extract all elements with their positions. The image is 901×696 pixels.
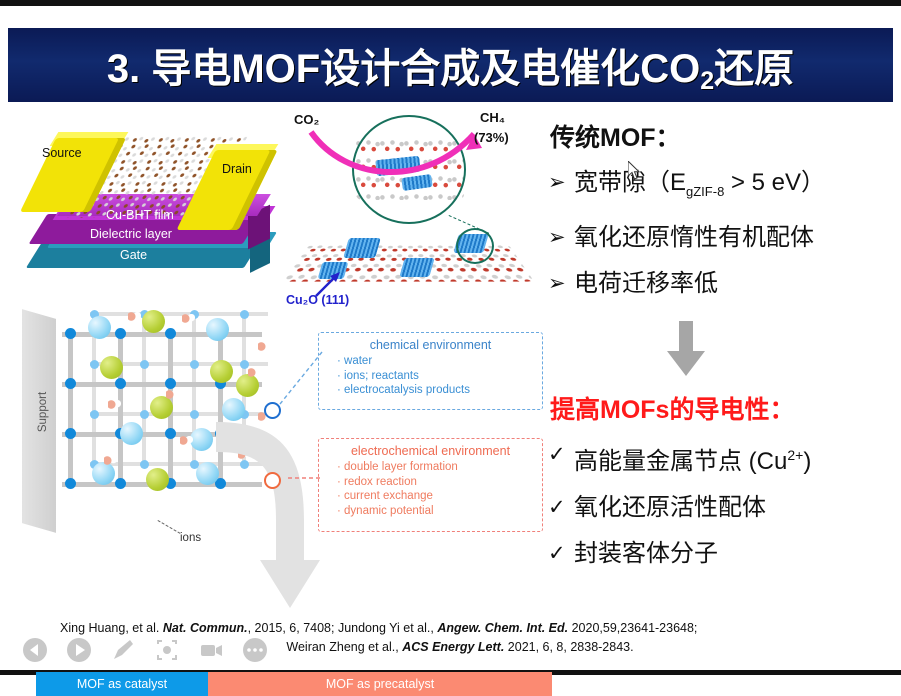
citation-details-2: 2020,59,23641-23648; (568, 621, 697, 635)
electrochemical-environment-callout: electrochemical environment double layer… (318, 438, 543, 532)
ch4-yield-label: (73%) (474, 130, 509, 145)
transistor-device-diagram: Source Drain Cu-BHT film Dielectric laye… (24, 110, 276, 300)
metal-node (165, 378, 176, 389)
traditional-mof-item-1-text: 宽带隙（EgZIF-8 > 5 eV） (574, 168, 825, 207)
guest-ion-blue (120, 422, 143, 445)
play-button[interactable] (66, 637, 92, 663)
improve-item-3: ✓ 封装客体分子 (548, 539, 893, 569)
guest-ion-green (236, 374, 259, 397)
improve-item-1: ✓ 高能量金属节点 (Cu2+) (548, 440, 893, 477)
metal-node-back (140, 410, 149, 419)
citation-journal-2: Angew. Chem. Int. Ed. (437, 621, 568, 635)
item-text-a: 高能量金属节点 (Cu (574, 448, 787, 475)
metal-node (65, 328, 76, 339)
water-molecule (182, 314, 195, 323)
metal-node (65, 428, 76, 439)
bullet-arrow-icon: ➢ (548, 168, 574, 198)
page-title: 3. 导电MOF设计合成及电催化CO2还原 (107, 36, 794, 94)
list-item: current exchange (337, 489, 542, 504)
water-molecule (166, 390, 179, 399)
more-options-button[interactable] (242, 637, 268, 663)
playback-controls[interactable] (22, 628, 242, 672)
figure-column: Source Drain Cu-BHT film Dielectric laye… (18, 110, 534, 610)
metal-node (115, 328, 126, 339)
mof-as-precatalyst-segment: MOF as precatalyst (208, 672, 552, 696)
down-arrow-icon (666, 321, 706, 377)
citation-details-3: 2021, 6, 8, 2838-2843. (504, 640, 633, 654)
metal-node (115, 478, 126, 489)
lattice-line-back (142, 312, 146, 466)
ch4-label: CH₄ (480, 110, 505, 125)
list-item: double layer formation (337, 460, 542, 475)
guest-ion-green (150, 396, 173, 419)
pen-button[interactable] (110, 637, 136, 663)
chemical-environment-callout: chemical environment water ions; reactan… (318, 332, 543, 410)
citation-authors-3: Weiran Zheng et al., (286, 640, 402, 654)
traditional-mof-item-3-text: 电荷迁移率低 (574, 269, 718, 299)
guest-ion-green (146, 468, 169, 491)
ions-label: ions (180, 532, 201, 544)
check-icon: ✓ (548, 493, 574, 523)
catalyst-stage-bar: MOF as catalyst MOF as precatalyst (36, 672, 552, 696)
guest-ion-blue (88, 316, 111, 339)
lattice-line (68, 332, 73, 487)
guest-ion-blue (206, 318, 229, 341)
water-molecule (128, 312, 141, 321)
gate-label: Gate (120, 248, 147, 262)
check-icon: ✓ (548, 539, 574, 569)
list-item: dynamic potential (337, 504, 542, 519)
metal-node-back (140, 360, 149, 369)
chemical-env-marker (264, 402, 281, 419)
citation-journal-3: ACS Energy Lett. (402, 640, 504, 654)
traditional-mof-item-1: ➢ 宽带隙（EgZIF-8 > 5 eV） (548, 168, 893, 207)
metal-node (115, 378, 126, 389)
list-item: redox reaction (337, 475, 542, 490)
water-molecule (104, 456, 117, 465)
improve-item-1-text: 高能量金属节点 (Cu2+) (574, 440, 811, 477)
co2-to-ch4-arrow (306, 124, 486, 186)
traditional-mof-item-3: ➢ 电荷迁移率低 (548, 269, 893, 299)
list-item: water (337, 354, 542, 369)
metal-node-back (240, 310, 249, 319)
list-item: ions; reactants (337, 369, 542, 384)
source-label: Source (42, 146, 82, 160)
improve-item-2: ✓ 氧化还原活性配体 (548, 493, 893, 523)
metal-node-back (190, 360, 199, 369)
mof-as-catalyst-segment: MOF as catalyst (36, 672, 208, 696)
metal-node-back (190, 410, 199, 419)
metal-node (165, 428, 176, 439)
text-column: 传统MOF： ➢ 宽带隙（EgZIF-8 > 5 eV） ➢ 氧化还原惰性有机配… (548, 118, 893, 585)
support-label: Support (37, 377, 49, 447)
drain-label: Drain (222, 162, 252, 176)
electrochemical-callout-leader (280, 466, 324, 490)
traditional-mof-item-2: ➢ 氧化还原惰性有机配体 (548, 223, 893, 253)
electrochemical-environment-title: electrochemical environment (319, 439, 542, 458)
page-title-main: 3. 导电MOF设计合成及电催化CO (107, 47, 700, 91)
metal-node-back (140, 460, 149, 469)
cu2o-island-2 (399, 258, 434, 277)
slide-canvas: 3. 导电MOF设计合成及电催化CO2还原 Source Drain Cu-BH… (0, 0, 901, 675)
bullet-arrow-icon: ➢ (548, 269, 574, 299)
guest-ion-green (142, 310, 165, 333)
cu-bht-film-label: Cu-BHT film (106, 208, 174, 222)
electrochemical-env-marker (264, 472, 281, 489)
traditional-mof-heading: 传统MOF： (550, 118, 893, 154)
item-text-b: > 5 eV） (724, 169, 825, 196)
item-subscript: gZIF-8 (686, 184, 724, 199)
water-molecule (108, 400, 121, 409)
citation-details-1: , 2015, 6, 7408; Jundong Yi et al., (248, 621, 438, 635)
dielectric-layer-label: Dielectric layer (90, 227, 172, 241)
check-icon: ✓ (548, 440, 574, 470)
co2-label: CO₂ (294, 112, 319, 127)
metal-node (65, 378, 76, 389)
guest-ion-green (100, 356, 123, 379)
process-flow-arrow (208, 410, 328, 620)
zoom-circle-small (456, 228, 494, 264)
chemical-environment-list: water ions; reactants electrocatalysis p… (337, 354, 542, 398)
page-title-subscript: 2 (700, 67, 714, 95)
metal-node-back (90, 360, 99, 369)
guest-ion-blue (92, 462, 115, 485)
metal-node-back (90, 410, 99, 419)
improve-item-3-text: 封装客体分子 (574, 539, 718, 569)
chemical-environment-title: chemical environment (319, 333, 542, 352)
traditional-mof-item-2-text: 氧化还原惰性有机配体 (574, 223, 814, 253)
water-molecule (248, 368, 261, 377)
water-molecule (180, 436, 193, 445)
list-item: electrocatalysis products (337, 383, 542, 398)
mouse-cursor (628, 161, 642, 181)
page-title-tail: 还原 (714, 47, 794, 91)
guest-ion-green (210, 360, 233, 383)
cu2o-island-1 (343, 238, 381, 258)
electrochemical-environment-list: double layer formation redox reaction cu… (337, 460, 542, 518)
cu2o-facet-label: Cu₂O (111) (286, 293, 349, 307)
co2-to-ch4-diagram: CO₂ CH₄ (73%) Cu₂O (111) (284, 110, 534, 310)
improve-conductivity-heading: 提高MOFs的导电性： (550, 390, 893, 426)
metal-node (65, 478, 76, 489)
bullet-arrow-icon: ➢ (548, 223, 574, 253)
slide-title-bar: 3. 导电MOF设计合成及电催化CO2还原 (8, 28, 893, 102)
laser-pointer-button[interactable] (154, 637, 180, 663)
camera-button[interactable] (198, 637, 224, 663)
item-text-b: ) (803, 448, 811, 475)
chemical-callout-leader (270, 346, 326, 410)
item-superscript: 2+ (787, 447, 803, 463)
previous-button[interactable] (22, 637, 48, 663)
improve-item-2-text: 氧化还原活性配体 (574, 493, 766, 523)
metal-node (165, 328, 176, 339)
